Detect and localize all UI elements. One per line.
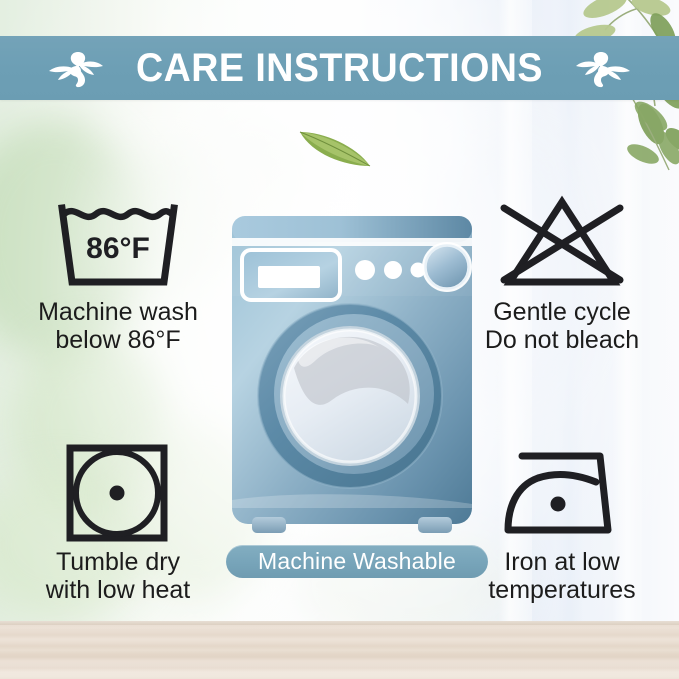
wash-temperature-value: 86°F <box>86 232 150 265</box>
floating-leaf-icon <box>296 122 374 170</box>
tumble-dry-square-circle-icon <box>42 442 194 542</box>
fleur-de-lis-icon <box>574 46 632 90</box>
wood-table-edge <box>0 621 679 625</box>
iron-icon <box>486 442 638 542</box>
care-symbol-label: Tumble dry with low heat <box>46 548 191 604</box>
care-symbol-machine-wash: 86°F Machine wash below 86°F <box>8 192 228 354</box>
header-banner: CARE INSTRUCTIONS <box>0 36 679 100</box>
fleur-de-lis-icon <box>47 46 105 90</box>
care-symbol-do-not-bleach: Gentle cycle Do not bleach <box>452 192 672 354</box>
detergent-drawer <box>242 250 340 300</box>
care-symbol-iron: Iron at low temperatures <box>452 442 672 604</box>
machine-washable-badge: Machine Washable <box>226 545 488 578</box>
washing-machine-icon <box>228 208 476 533</box>
wood-table-surface <box>0 621 679 679</box>
program-knob <box>422 242 472 292</box>
care-instructions-infographic: CARE INSTRUCTIONS 86°F Machine wash belo… <box>0 0 679 679</box>
wash-tub-icon: 86°F <box>42 192 194 292</box>
badge-label: Machine Washable <box>258 548 456 575</box>
triangle-crossed-out-icon <box>486 192 638 292</box>
page-title: CARE INSTRUCTIONS <box>136 46 543 91</box>
care-symbol-label: Gentle cycle Do not bleach <box>485 298 639 354</box>
care-symbol-label: Iron at low temperatures <box>488 548 635 604</box>
care-symbol-label: Machine wash below 86°F <box>38 298 198 354</box>
machine-door <box>258 304 442 488</box>
care-symbol-tumble-dry: Tumble dry with low heat <box>8 442 228 604</box>
